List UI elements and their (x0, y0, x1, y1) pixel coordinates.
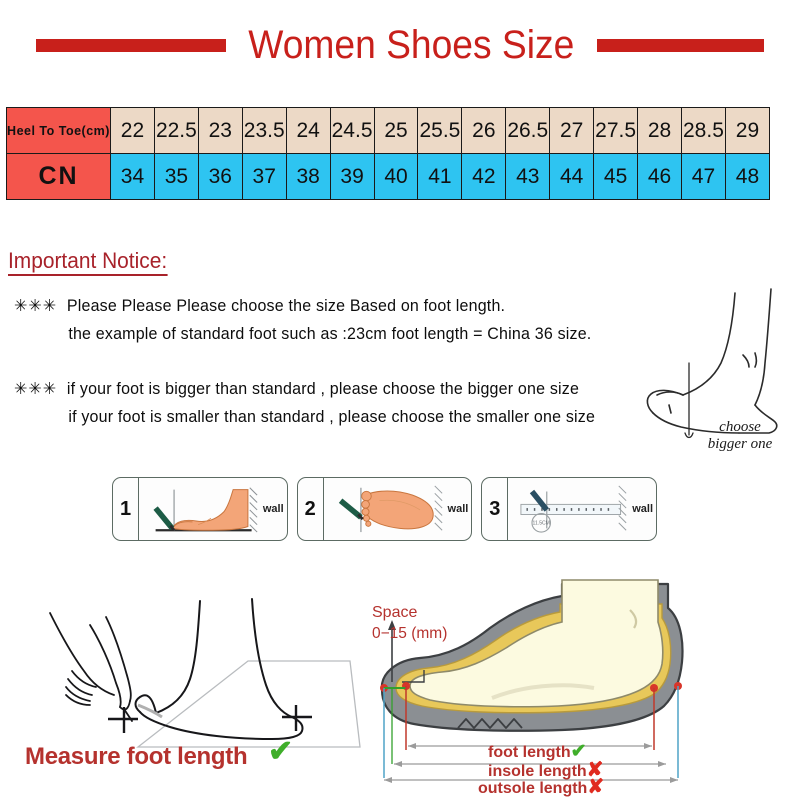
step-number: 2 (298, 478, 324, 540)
measure-foot-length-label: Measure foot length (25, 743, 247, 771)
label-text: outsole length (478, 780, 587, 797)
cm-cell: 22.5 (154, 108, 198, 154)
step-number: 3 (482, 478, 508, 540)
step-3-illustration: 11.5CM wall (508, 478, 656, 540)
asterisk-marker: ✳✳✳ (14, 297, 67, 315)
table-row-cn: CN 34 35 36 37 38 39 40 41 42 43 44 45 4… (7, 154, 770, 200)
ruler-badge-text: 11.5CM (533, 521, 550, 527)
caption-line-2: bigger one (708, 436, 773, 452)
notice-text: if your foot is bigger than standard , p… (67, 380, 579, 398)
step-number: 1 (113, 478, 139, 540)
cn-cell: 37 (242, 154, 286, 200)
cm-cell: 25.5 (418, 108, 462, 154)
cm-cell: 24 (286, 108, 330, 154)
notice-text: Please Please Please choose the size Bas… (67, 297, 505, 315)
asterisk-marker: ✳✳✳ (14, 380, 67, 398)
cn-cell: 39 (330, 154, 374, 200)
cm-cell: 24.5 (330, 108, 374, 154)
cross-icon: ✘ (587, 776, 604, 798)
cm-cell: 26 (462, 108, 506, 154)
cm-cell: 23.5 (242, 108, 286, 154)
notice-line: the example of standard foot such as :23… (14, 320, 591, 348)
important-notice-heading: Important Notice: (8, 249, 167, 276)
cn-cell: 46 (638, 154, 682, 200)
cn-cell: 42 (462, 154, 506, 200)
step-2-illustration: wall (324, 478, 472, 540)
step-1-illustration: wall (139, 478, 287, 540)
cn-cell: 36 (198, 154, 242, 200)
wall-label: wall (263, 503, 284, 515)
cn-cell: 43 (506, 154, 550, 200)
cm-cell: 23 (198, 108, 242, 154)
cn-cell: 48 (725, 154, 769, 200)
cm-cell: 28 (638, 108, 682, 154)
cn-cell: 38 (286, 154, 330, 200)
cm-cell: 25 (374, 108, 418, 154)
notice-block-bigger-smaller: ✳✳✳if your foot is bigger than standard … (14, 375, 595, 431)
cn-cell: 34 (111, 154, 155, 200)
size-conversion-table: Heel To Toe(cm) 22 22.5 23 23.5 24 24.5 … (6, 107, 770, 200)
cn-cell: 47 (681, 154, 725, 200)
check-icon: ✔ (268, 737, 293, 767)
cm-cell: 28.5 (681, 108, 725, 154)
caption-line-1: choose (719, 419, 761, 435)
row-label-cn: CN (7, 154, 111, 200)
notice-line: ✳✳✳Please Please Please choose the size … (14, 292, 591, 320)
wall-label: wall (448, 503, 469, 515)
title-rule-left (36, 39, 226, 52)
cn-cell: 41 (418, 154, 462, 200)
cn-cell: 45 (594, 154, 638, 200)
table-row-heel-to-toe: Heel To Toe(cm) 22 22.5 23 23.5 24 24.5 … (7, 108, 770, 154)
measurement-steps: 1 (112, 477, 657, 541)
cn-cell: 35 (154, 154, 198, 200)
row-label-heel-to-toe: Heel To Toe(cm) (7, 108, 111, 154)
notice-line: ✳✳✳if your foot is bigger than standard … (14, 375, 595, 403)
notice-block-size-choice: ✳✳✳Please Please Please choose the size … (14, 292, 591, 348)
title-rule-right (597, 39, 764, 52)
space-gap-label: Space 0−15 (mm) (372, 602, 447, 644)
outsole-length-label: outsole length✘ (478, 774, 604, 799)
space-label-line-1: Space (372, 602, 447, 623)
space-label-line-2: 0−15 (mm) (372, 623, 447, 644)
wall-label: wall (632, 503, 653, 515)
cm-cell: 22 (111, 108, 155, 154)
cm-cell: 27 (550, 108, 594, 154)
step-box-1: 1 (112, 477, 288, 541)
page-title: Women Shoes Size (239, 23, 584, 68)
cm-cell: 26.5 (506, 108, 550, 154)
page-header: Women Shoes Size (0, 14, 800, 76)
cm-cell: 27.5 (594, 108, 638, 154)
step-box-3: 3 11.5CM (481, 477, 657, 541)
notice-line: if your foot is smaller than standard , … (14, 403, 595, 431)
cm-cell: 29 (725, 108, 769, 154)
choose-bigger-one-caption: choose bigger one (690, 419, 790, 453)
cn-cell: 44 (550, 154, 594, 200)
cn-cell: 40 (374, 154, 418, 200)
step-box-2: 2 (297, 477, 473, 541)
